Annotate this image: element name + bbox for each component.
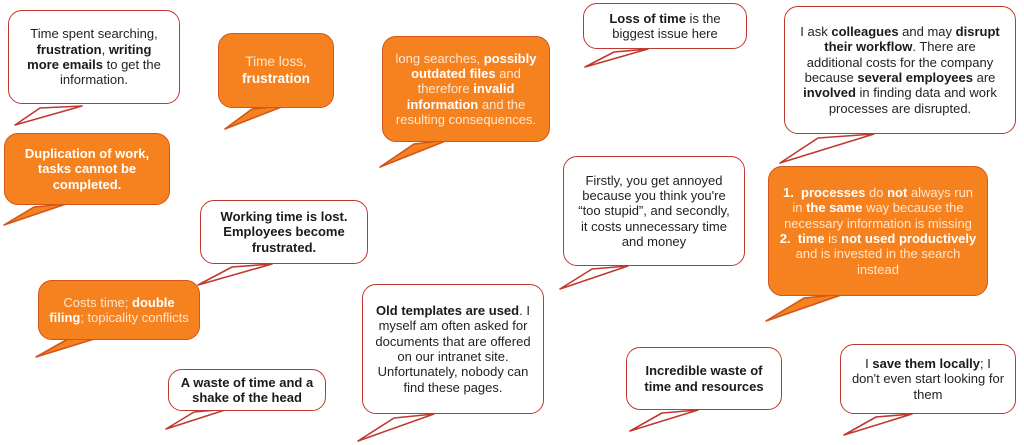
list-item-text: time is not used productively and is inv…	[796, 231, 977, 277]
list-marker: 2.	[780, 231, 798, 246]
bubble-old-templates: Old templates are used. I myself am ofte…	[362, 284, 544, 414]
bubble-text: Duplication of work, tasks cannot be com…	[15, 146, 159, 192]
bubble-time-loss-frustration: Time loss, frustration	[218, 33, 334, 108]
bubble-time-spent-searching: Time spent searching, frustration, writi…	[8, 10, 180, 104]
bubble-waste-of-time: A waste of time and a shake of the head	[168, 369, 326, 411]
bubble-text: I ask colleagues and may disrupt their w…	[795, 24, 1005, 116]
bubble-text: I save them locally; I don't even start …	[851, 356, 1005, 402]
bubble-loss-of-time: Loss of time is the biggest issue here	[583, 3, 747, 49]
bubble-save-them-locally: I save them locally; I don't even start …	[840, 344, 1016, 414]
bubble-text: Time loss, frustration	[229, 54, 323, 86]
bubble-processes-list: 1. processes do not always run in the sa…	[768, 166, 988, 296]
bubble-text: A waste of time and a shake of the head	[179, 375, 315, 406]
bubble-ordered-list: 1. processes do not always run in the sa…	[779, 185, 977, 277]
bubble-text: long searches, possibly outdated files a…	[393, 51, 539, 128]
bubble-text: Time spent searching, frustration, writi…	[19, 26, 169, 87]
list-item: 2. time is not used productively and is …	[779, 231, 977, 277]
speech-bubble-collage: Time spent searching, frustration, writi…	[0, 0, 1024, 445]
bubble-duplication-of-work: Duplication of work, tasks cannot be com…	[4, 133, 170, 205]
bubble-costs-time: Costs time; double filing; topicality co…	[38, 280, 200, 340]
list-marker: 1.	[783, 185, 801, 200]
bubble-text: Firstly, you get annoyed because you thi…	[574, 173, 734, 250]
bubble-working-time-lost: Working time is lost. Employees become f…	[200, 200, 368, 264]
bubble-text: Costs time; double filing; topicality co…	[49, 295, 189, 326]
bubble-text: Loss of time is the biggest issue here	[594, 11, 736, 42]
bubble-ask-colleagues: I ask colleagues and may disrupt their w…	[784, 6, 1016, 134]
list-item: 1. processes do not always run in the sa…	[779, 185, 977, 231]
bubble-text: Old templates are used. I myself am ofte…	[373, 303, 533, 395]
bubble-text: Working time is lost. Employees become f…	[211, 209, 357, 255]
bubble-incredible-waste: Incredible waste of time and resources	[626, 347, 782, 410]
bubble-firstly-annoyed: Firstly, you get annoyed because you thi…	[563, 156, 745, 266]
list-item-text: processes do not always run in the same …	[784, 185, 973, 231]
bubble-long-searches: long searches, possibly outdated files a…	[382, 36, 550, 142]
bubble-text: Incredible waste of time and resources	[637, 363, 771, 394]
